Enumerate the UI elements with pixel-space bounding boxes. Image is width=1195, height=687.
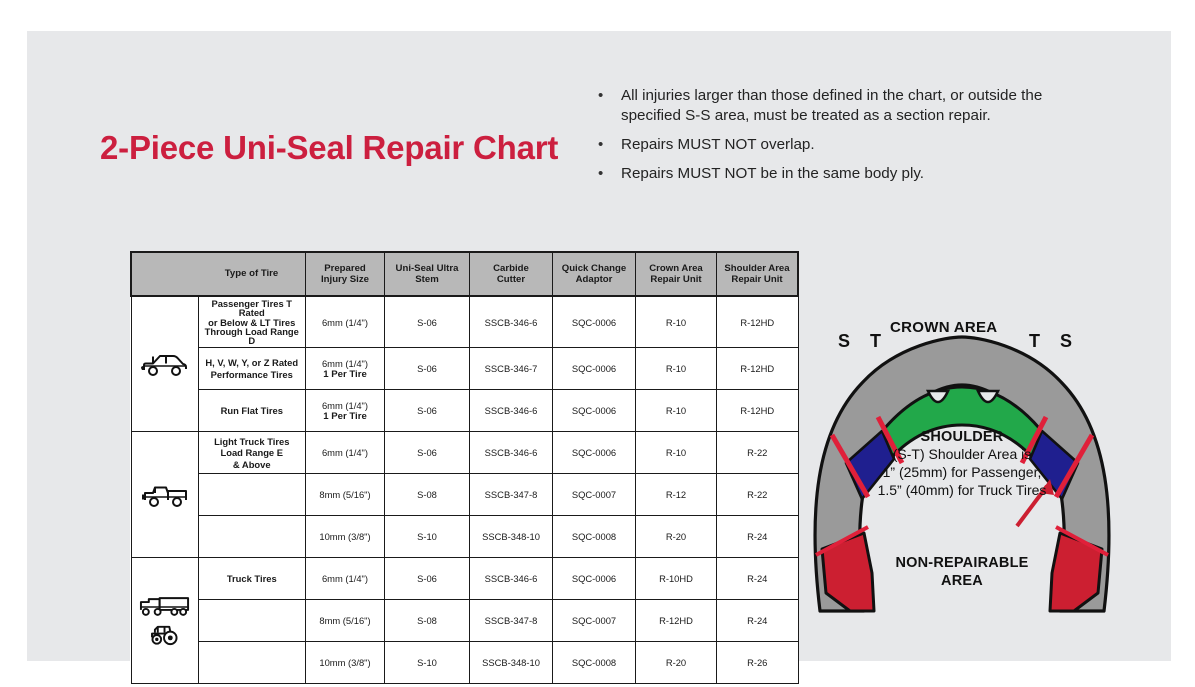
tractor-icon [148,622,182,648]
column-header-type-of-tire-icon [131,252,198,296]
cutter-cell: SSCB-346-6 [470,558,553,600]
injury-size-value: 10mm (3/8") [308,657,382,668]
header-line: Type of Tire [225,268,279,279]
stem-cell: S-06 [385,348,470,390]
column-header-prepared-injury-size: PreparedInjury Size [306,252,385,296]
bullet-text: Repairs MUST NOT be in the same body ply… [621,164,1100,184]
s-label-right: S [1060,331,1072,352]
shoulder-unit-cell: R-22 [717,432,799,474]
pickup-truck-icon [140,482,190,508]
tire-type-cell [198,516,306,558]
tire-type-cell [198,600,306,642]
stem-cell: S-06 [385,296,470,348]
adaptor-cell: SQC-0008 [553,642,636,684]
non-repairable-callout: NON-REPAIRABLE AREA [802,554,1122,590]
table-row: Light Truck Tires Load Range E & Above 6… [131,432,798,474]
header-line: Shoulder Area [724,263,789,274]
crown-unit-cell: R-10 [636,432,717,474]
prepared-injury-size-cell: 8mm (5/16") [306,600,385,642]
crown-area-label: CROWN AREA [890,319,997,336]
shoulder-unit-cell: R-24 [717,516,799,558]
crown-unit-cell: R-20 [636,642,717,684]
cutter-cell: SSCB-346-6 [470,390,553,432]
header-line: Adaptor [576,274,613,285]
table-row: 10mm (3/8") S-10 SSCB-348-10 SQC-0008 R-… [131,642,798,684]
per-tire-note: 1 Per Tire [308,411,382,422]
crown-unit-cell: R-10HD [636,558,717,600]
vehicle-icon-wrapper [134,482,196,508]
injury-size-value: 6mm (1/4") [308,317,382,328]
semi-truck-icon-cell [131,558,198,684]
page-title: 2-Piece Uni-Seal Repair Chart [100,129,558,167]
crown-unit-cell: R-10 [636,296,717,348]
tire-type-line: H, V, W, Y, or Z Rated [205,357,298,368]
crown-unit-cell: R-10 [636,348,717,390]
column-header-uni-seal-ultra-stem: Uni-Seal UltraStem [385,252,470,296]
adaptor-cell: SQC-0006 [553,432,636,474]
cutter-cell: SSCB-346-7 [470,348,553,390]
column-header-crown-area-repair-unit: Crown AreaRepair Unit [636,252,717,296]
prepared-injury-size-cell: 10mm (3/8") [306,516,385,558]
table-row: H, V, W, Y, or Z Rated Performance Tires… [131,348,798,390]
cutter-cell: SSCB-347-8 [470,600,553,642]
prepared-injury-size-cell: 6mm (1/4") [306,432,385,474]
shoulder-unit-cell: R-26 [717,642,799,684]
injury-size-value: 10mm (3/8") [308,531,382,542]
table-row: 10mm (3/8") S-10 SSCB-348-10 SQC-0008 R-… [131,516,798,558]
car-icon-cell [131,296,198,432]
stem-cell: S-08 [385,474,470,516]
header-line: Uni-Seal Ultra [396,263,459,274]
t-label-left: T [870,331,881,352]
stem-cell: S-10 [385,516,470,558]
prepared-injury-size-cell: 6mm (1/4") 1 Per Tire [306,390,385,432]
injury-size-value: 6mm (1/4") [308,400,382,411]
tire-type-line: Performance Tires [211,369,293,380]
bullet-list: • All injuries larger than those defined… [595,86,1100,193]
cutter-cell: SSCB-348-10 [470,642,553,684]
column-header-quick-change-adaptor: Quick ChangeAdaptor [553,252,636,296]
shoulder-unit-cell: R-12HD [717,348,799,390]
bullet-marker-icon: • [595,86,621,106]
tire-type-line: Truck Tires [227,573,277,584]
shoulder-unit-cell: R-22 [717,474,799,516]
shoulder-heading: SHOULDER [802,429,1122,445]
injury-size-value: 6mm (1/4") [308,573,382,584]
header-line: Quick Change [562,263,627,274]
vehicle-icon-wrapper [134,351,196,377]
bullet-item: • Repairs MUST NOT be in the same body p… [595,164,1100,184]
stem-cell: S-08 [385,600,470,642]
adaptor-cell: SQC-0006 [553,296,636,348]
adaptor-cell: SQC-0008 [553,516,636,558]
cutter-cell: SSCB-347-8 [470,474,553,516]
crown-unit-cell: R-12 [636,474,717,516]
adaptor-cell: SQC-0006 [553,558,636,600]
injury-size-value: 6mm (1/4") [308,358,382,369]
injury-size-value: 8mm (5/16") [308,615,382,626]
adaptor-cell: SQC-0006 [553,348,636,390]
tire-type-cell: Truck Tires [198,558,306,600]
column-header-carbide-cutter: CarbideCutter [470,252,553,296]
header-line: Stem [415,274,438,285]
slide-canvas: 2-Piece Uni-Seal Repair Chart • All inju… [27,31,1171,661]
cutter-cell: SSCB-346-6 [470,432,553,474]
table-row: Run Flat Tires 6mm (1/4") 1 Per Tire S-0… [131,390,798,432]
header-line: Cutter [497,274,525,285]
crown-unit-cell: R-12HD [636,600,717,642]
prepared-injury-size-cell: 10mm (3/8") [306,642,385,684]
table-header: Type of Tire PreparedInjury Size Uni-Sea… [131,252,798,296]
bullet-item: • Repairs MUST NOT overlap. [595,135,1100,155]
s-label-left: S [838,331,850,352]
header-line: Prepared [324,263,366,274]
table-row: 8mm (5/16") S-08 SSCB-347-8 SQC-0007 R-1… [131,600,798,642]
bullet-item: • All injuries larger than those defined… [595,86,1100,126]
tire-type-cell: Run Flat Tires [198,390,306,432]
shoulder-callout: SHOULDER (S-T) Shoulder Area is 1” (25mm… [802,429,1122,499]
column-header-type-of-tire: Type of Tire [198,252,306,296]
injury-size-value: 6mm (1/4") [308,447,382,458]
prepared-injury-size-cell: 6mm (1/4") [306,296,385,348]
table-row: Passenger Tires T Rated or Below & LT Ti… [131,296,798,348]
shoulder-unit-cell: R-24 [717,600,799,642]
header-line: Crown Area [649,263,703,274]
bullet-marker-icon: • [595,164,621,184]
pickup-truck-icon-cell [131,432,198,558]
column-header-shoulder-area-repair-unit: Shoulder AreaRepair Unit [717,252,799,296]
stem-cell: S-06 [385,390,470,432]
shoulder-line: (S-T) Shoulder Area is [802,445,1122,463]
header-line: Carbide [493,263,529,274]
crown-unit-cell: R-10 [636,390,717,432]
non-repairable-line: NON-REPAIRABLE [802,554,1122,572]
table-body: Passenger Tires T Rated or Below & LT Ti… [131,296,798,684]
vehicle-icon-wrapper [134,594,196,648]
tire-cross-section-diagram: CROWN AREA S T T S SHOULDER (S-T) Should… [802,311,1122,621]
stem-cell: S-10 [385,642,470,684]
prepared-injury-size-cell: 6mm (1/4") [306,558,385,600]
tire-type-line: Through Load Range D [205,326,299,346]
bullet-text: All injuries larger than those defined i… [621,86,1100,126]
shoulder-unit-cell: R-12HD [717,390,799,432]
semi-truck-icon [138,594,192,618]
stem-cell: S-06 [385,558,470,600]
prepared-injury-size-cell: 6mm (1/4") 1 Per Tire [306,348,385,390]
header-line: Repair Unit [731,274,782,285]
shoulder-line: 1.5” (40mm) for Truck Tires [802,481,1122,499]
shoulder-unit-cell: R-12HD [717,296,799,348]
non-repairable-line: AREA [802,572,1122,590]
bullet-text: Repairs MUST NOT overlap. [621,135,1100,155]
tire-type-cell: Passenger Tires T Rated or Below & LT Ti… [198,296,306,348]
tire-type-line: Run Flat Tires [221,405,283,416]
tire-type-cell [198,642,306,684]
stem-cell: S-06 [385,432,470,474]
tire-type-line: Passenger Tires T Rated [211,298,292,318]
tire-type-line: & Above [233,459,271,470]
table-row: Truck Tires 6mm (1/4") S-06 SSCB-346-6 S… [131,558,798,600]
header-line: Injury Size [321,274,369,285]
prepared-injury-size-cell: 8mm (5/16") [306,474,385,516]
table-row: 8mm (5/16") S-08 SSCB-347-8 SQC-0007 R-1… [131,474,798,516]
injury-size-value: 8mm (5/16") [308,489,382,500]
tire-type-cell: Light Truck Tires Load Range E & Above [198,432,306,474]
table-header-row: Type of Tire PreparedInjury Size Uni-Sea… [131,252,798,296]
crown-unit-cell: R-20 [636,516,717,558]
tire-type-cell [198,474,306,516]
shoulder-line: 1” (25mm) for Passenger, [802,463,1122,481]
repair-chart-table: Type of Tire PreparedInjury Size Uni-Sea… [130,251,799,684]
t-label-right: T [1029,331,1040,352]
tire-type-line: Light Truck Tires [214,436,289,447]
shoulder-unit-cell: R-24 [717,558,799,600]
adaptor-cell: SQC-0007 [553,600,636,642]
adaptor-cell: SQC-0006 [553,390,636,432]
cutter-cell: SSCB-346-6 [470,296,553,348]
cutter-cell: SSCB-348-10 [470,516,553,558]
adaptor-cell: SQC-0007 [553,474,636,516]
tire-type-line: Load Range E [220,447,283,458]
header-line: Repair Unit [650,274,701,285]
bullet-marker-icon: • [595,135,621,155]
per-tire-note: 1 Per Tire [308,369,382,380]
car-icon [140,351,190,377]
tire-type-cell: H, V, W, Y, or Z Rated Performance Tires [198,348,306,390]
